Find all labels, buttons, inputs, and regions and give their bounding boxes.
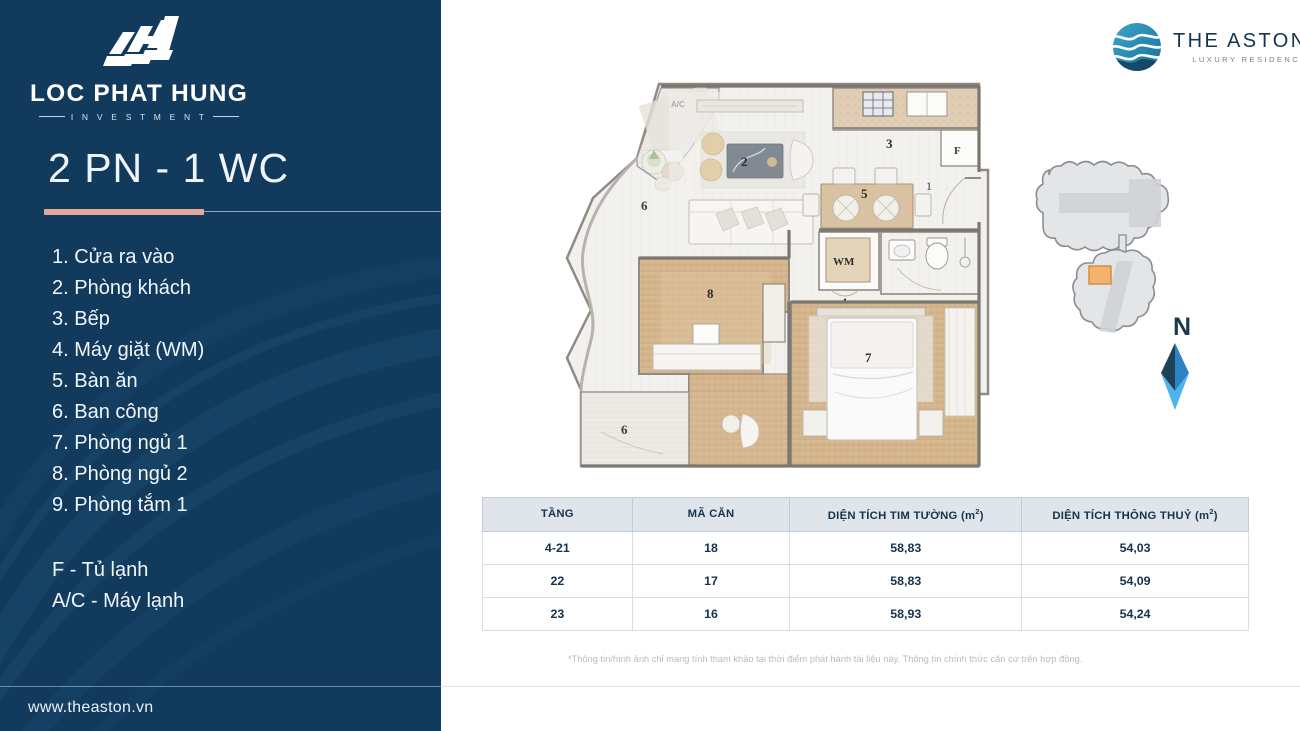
cell-unit-code: 16: [632, 597, 790, 630]
cell-wall-area: 58,93: [790, 597, 1022, 630]
unit-spec-table: TẦNG MÃ CĂN DIỆN TÍCH TIM TƯỜNG (m2) DIỆ…: [482, 497, 1249, 631]
cell-wall-area: 58,83: [790, 531, 1022, 564]
aston-brand-logo: THE ASTON LUXURY RESIDENCE: [1112, 22, 1300, 72]
floorplan-page: LOC PHAT HUNG I N V E S T M E N T 2 PN -…: [0, 0, 1300, 731]
apartment-floorplan[interactable]: 6 A/C: [541, 62, 1001, 482]
disclaimer-footnote: *Thông tin/hình ảnh chỉ mang tính tham k…: [568, 654, 1228, 664]
label-kitchen: 3: [886, 136, 893, 151]
building-footprint: [1036, 162, 1168, 334]
legend-item: 7. Phòng ngủ 1: [52, 428, 412, 459]
page-title: 2 PN - 1 WC: [48, 148, 289, 189]
footer-divider: [0, 686, 1300, 687]
company-logo: LOC PHAT HUNG I N V E S T M E N T: [14, 14, 264, 122]
sidebar-panel: LOC PHAT HUNG I N V E S T M E N T 2 PN -…: [0, 0, 441, 731]
footer-website-url[interactable]: www.theaston.vn: [28, 699, 153, 717]
column-header-floor: TẦNG: [483, 498, 633, 532]
cell-net-area: 54,09: [1022, 564, 1249, 597]
aston-brand-title: THE ASTON: [1173, 31, 1300, 52]
table-header-row: TẦNG MÃ CĂN DIỆN TÍCH TIM TƯỜNG (m2) DIỆ…: [483, 498, 1249, 532]
compass: N: [1161, 313, 1191, 410]
living-room-area: 2: [669, 92, 821, 254]
table-row: 22 17 58,83 54,09: [483, 564, 1249, 597]
main-content: THE ASTON LUXURY RESIDENCE: [441, 0, 1300, 731]
aston-brand-subtitle: LUXURY RESIDENCE: [1173, 55, 1300, 64]
legend-item: 9. Phòng tắm 1: [52, 490, 412, 521]
cell-wall-area: 58,83: [790, 564, 1022, 597]
legend-item: 2. Phòng khách: [52, 273, 412, 304]
label-dining-table: 5: [861, 186, 868, 201]
legend-item: 8. Phòng ngủ 2: [52, 459, 412, 490]
column-header-net-area: DIỆN TÍCH THÔNG THUỶ (m2): [1022, 498, 1249, 532]
wave-circle-icon: [1112, 22, 1162, 72]
bedroom-1-area: 7: [791, 302, 979, 466]
column-header-wall-area: DIỆN TÍCH TIM TƯỜNG (m2): [790, 498, 1022, 532]
logo-rule-right: [213, 116, 239, 117]
cell-floor: 23: [483, 597, 633, 630]
cell-floor: 4-21: [483, 531, 633, 564]
cell-floor: 22: [483, 564, 633, 597]
label-balcony-lower: 6: [621, 422, 628, 437]
company-name: LOC PHAT HUNG: [14, 82, 264, 107]
balcony-lower-area: 6: [581, 392, 689, 466]
label-wm: WM: [833, 256, 855, 268]
cell-unit-code: 17: [632, 564, 790, 597]
logo-rule-left: [39, 116, 65, 117]
label-bedroom-2: 8: [707, 286, 714, 301]
legend-item: 1. Cửa ra vào: [52, 242, 412, 273]
unit-highlight: [1089, 266, 1111, 284]
legend-item: 4. Máy giặt (WM): [52, 335, 412, 366]
lph-bars-icon: [79, 14, 199, 76]
cell-net-area: 54,24: [1022, 597, 1249, 630]
company-subtitle-row: I N V E S T M E N T: [14, 112, 264, 122]
table-row: 23 16 58,93 54,24: [483, 597, 1249, 630]
cell-unit-code: 18: [632, 531, 790, 564]
site-key-plan[interactable]: N: [1031, 145, 1231, 415]
label-living-room: 2: [741, 154, 748, 169]
company-subtitle: I N V E S T M E N T: [71, 112, 207, 122]
aston-brand-text: THE ASTON LUXURY RESIDENCE: [1173, 31, 1300, 64]
label-bedroom-1: 7: [865, 350, 872, 365]
legend-item: 5. Bàn ăn: [52, 366, 412, 397]
cell-net-area: 54,03: [1022, 531, 1249, 564]
abbreviation-legend-list: F - Tủ lạnh A/C - Máy lạnh: [52, 555, 412, 617]
legend-extra-item: F - Tủ lạnh: [52, 555, 412, 586]
legend-item: 3. Bếp: [52, 304, 412, 335]
legend-extra-item: A/C - Máy lạnh: [52, 586, 412, 617]
label-entrance: 1: [926, 179, 932, 193]
title-underline: [44, 208, 441, 216]
label-balcony-upper: 6: [641, 198, 648, 213]
column-header-unit-code: MÃ CĂN: [632, 498, 790, 532]
title-underline-accent: [44, 209, 204, 215]
compass-label: N: [1173, 313, 1191, 341]
label-refrigerator: F: [954, 145, 961, 157]
table-row: 4-21 18 58,83 54,03: [483, 531, 1249, 564]
floorplan-body: 6 A/C: [567, 84, 988, 466]
room-legend-list: 1. Cửa ra vào 2. Phòng khách 3. Bếp 4. M…: [52, 242, 412, 521]
legend-item: 6. Ban công: [52, 397, 412, 428]
